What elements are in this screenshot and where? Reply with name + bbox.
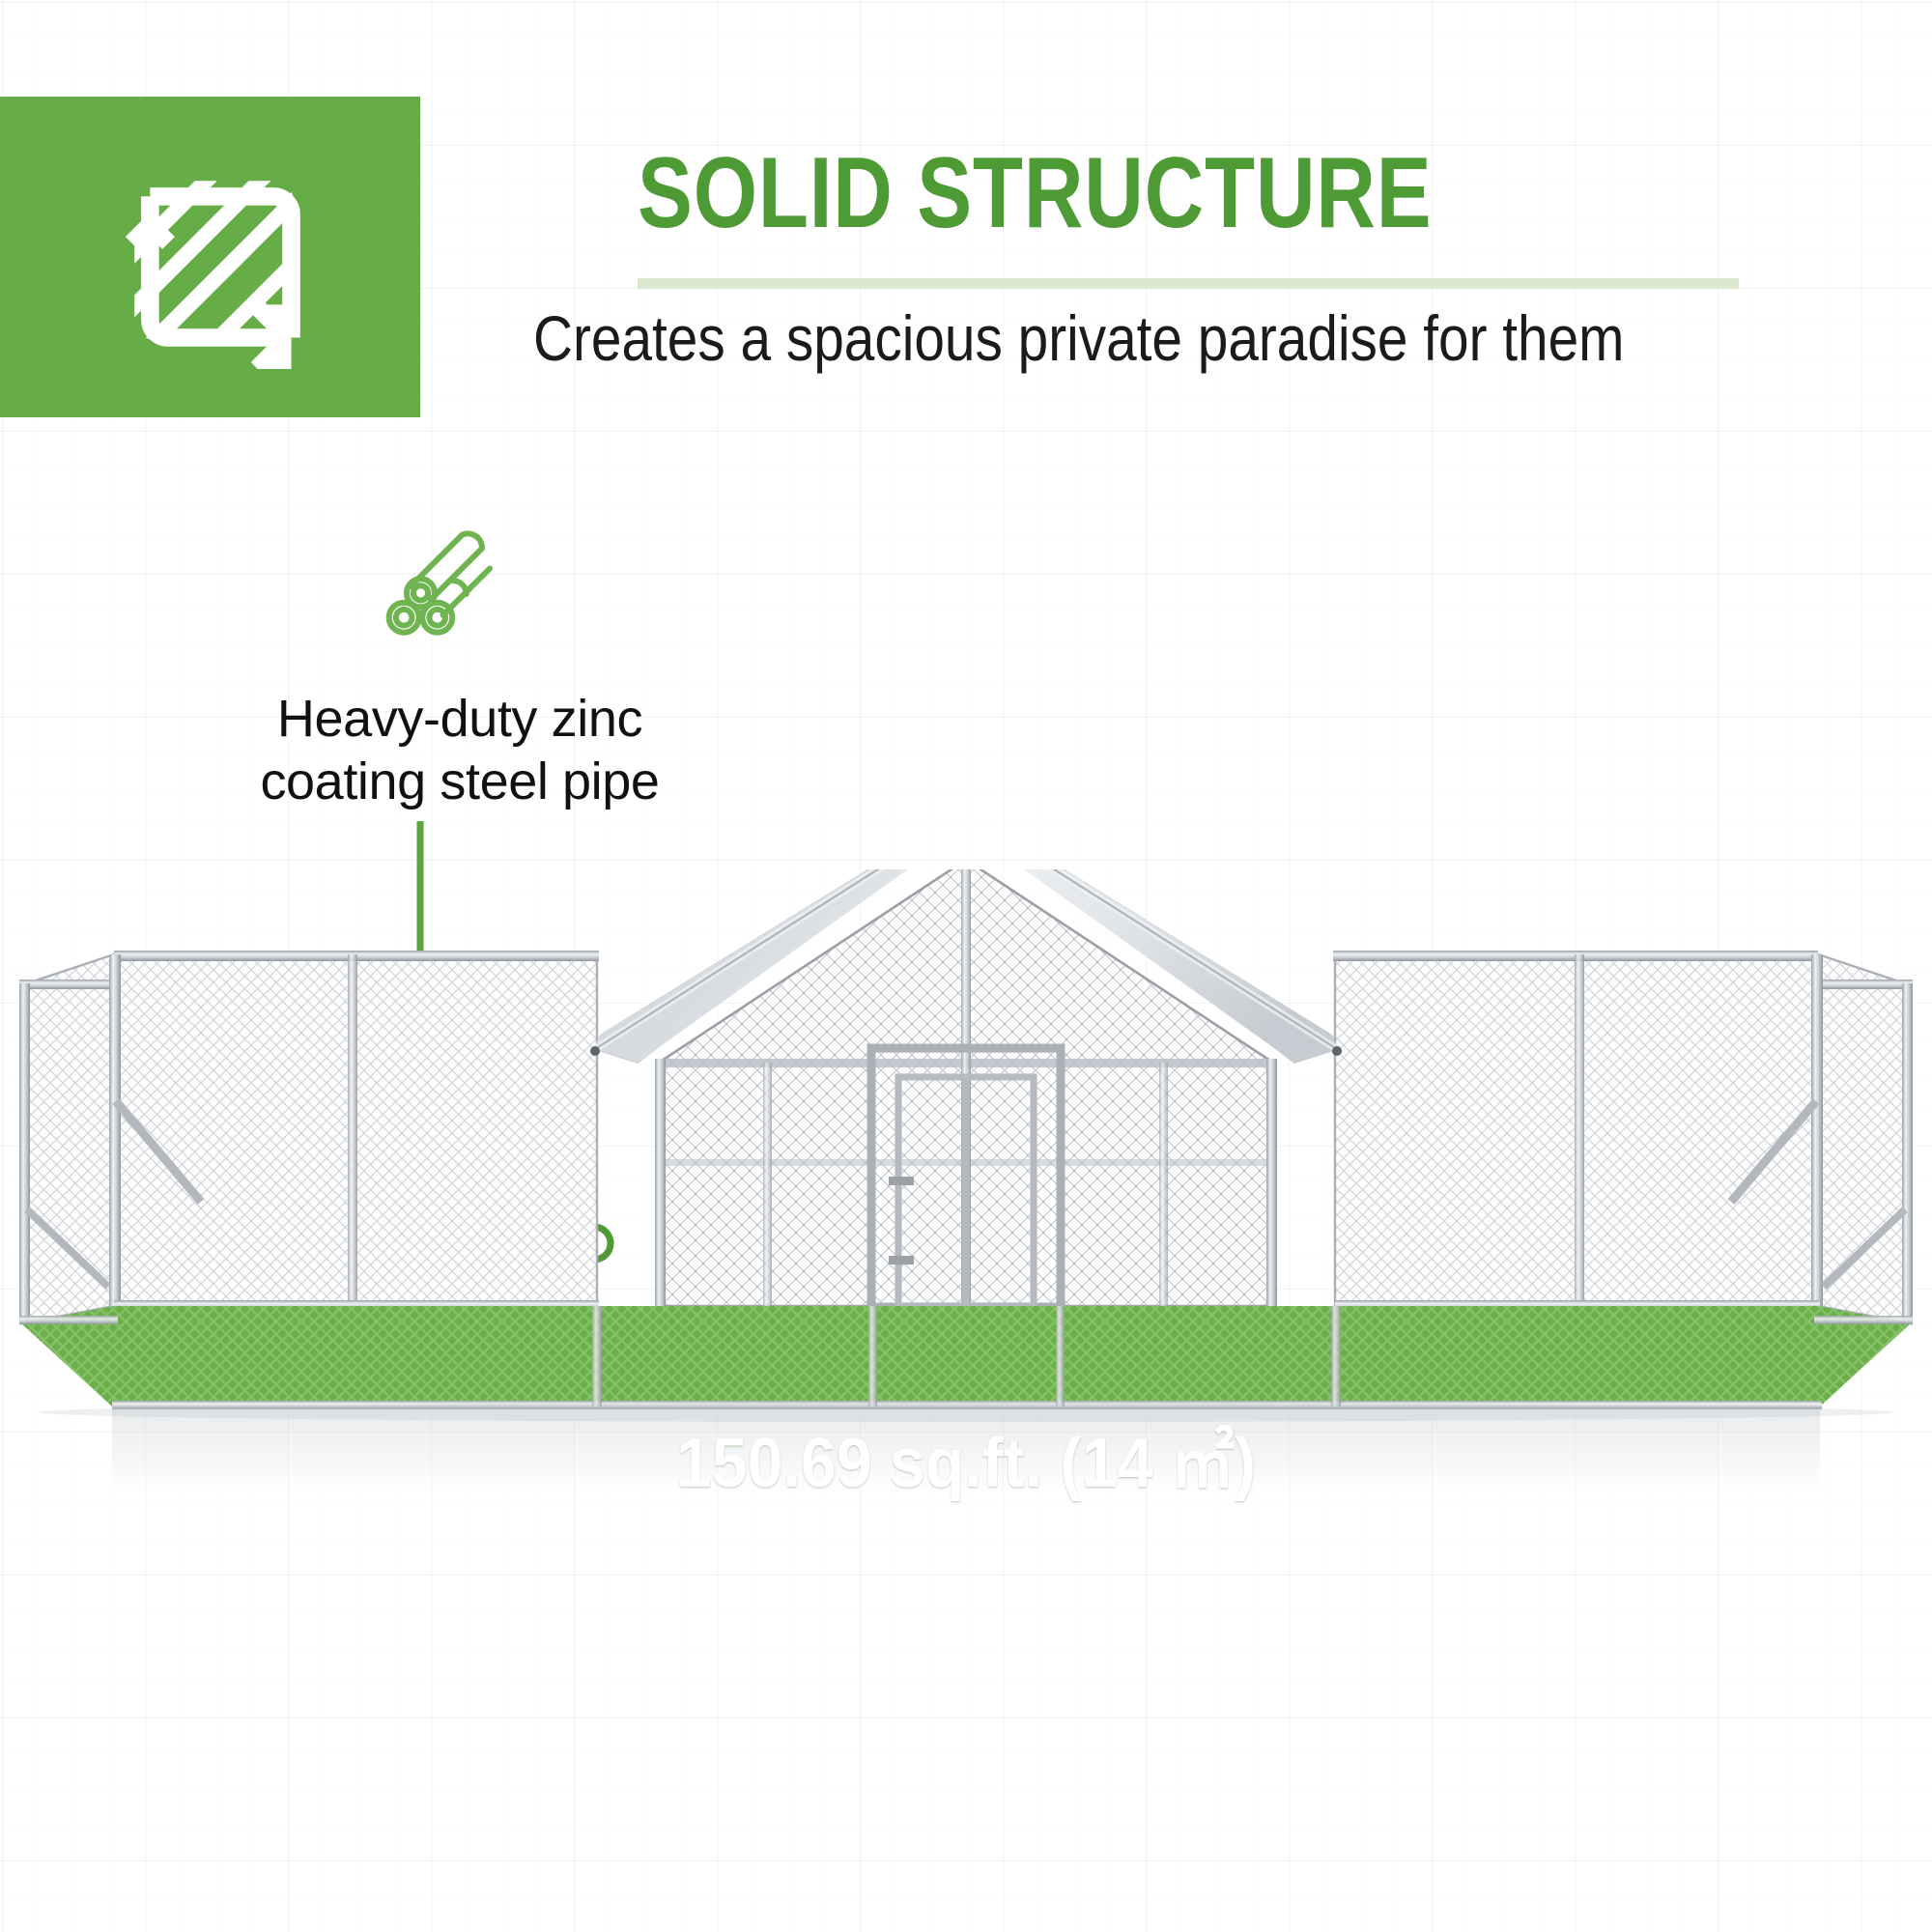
title-divider <box>638 278 1739 289</box>
callout-label: Heavy-duty zinc coating steel pipe <box>189 688 730 813</box>
page-title: SOLID STRUCTURE <box>638 143 1588 243</box>
infographic-page: SOLID STRUCTURE Creates a spacious priva… <box>0 0 1932 1932</box>
product-illustration-wrap <box>0 869 1932 1662</box>
area-dimensions-icon <box>99 145 323 369</box>
steel-pipes-icon-wrap <box>379 522 514 638</box>
page-subtitle: Creates a spacious private paradise for … <box>533 305 1713 372</box>
callout-label-line2: coating steel pipe <box>189 751 730 813</box>
steel-pipes-icon <box>379 522 514 638</box>
walk-in-chicken-coop-illustration <box>0 869 1932 1662</box>
callout-label-line1: Heavy-duty zinc <box>189 688 730 751</box>
area-dimensions-icon-block <box>0 97 420 417</box>
